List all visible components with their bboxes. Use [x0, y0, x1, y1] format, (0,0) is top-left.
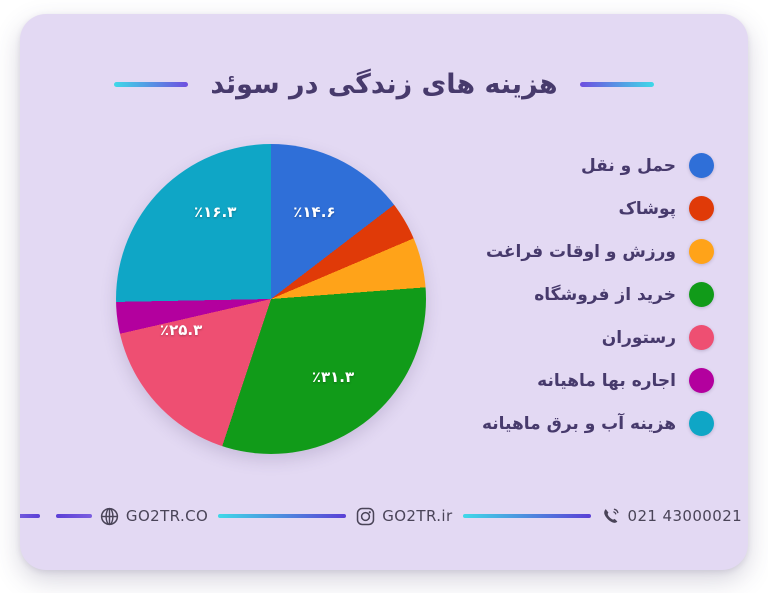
- footer-rule-4-icon: [463, 514, 591, 518]
- footer-rule-2-icon: [56, 514, 92, 518]
- legend-color-swatch: [689, 282, 714, 307]
- footer-phone[interactable]: 021 43000021: [601, 506, 743, 526]
- legend-color-swatch: [689, 325, 714, 350]
- legend-item-label: خرید از فروشگاه: [534, 285, 676, 305]
- chart-and-legend-area: ٪۱۴.۶٪۳۱.۳٪۲۵.۳٪۱۶.۳ حمل و نقلپوشاکورزش …: [20, 124, 748, 474]
- footer-rule-3-icon: [218, 514, 346, 518]
- legend-item[interactable]: خرید از فروشگاه: [424, 273, 714, 316]
- footer-rule-1-icon: [20, 514, 40, 518]
- legend-color-swatch: [689, 239, 714, 264]
- chart-legend: حمل و نقلپوشاکورزش و اوقات فراغتخرید از …: [424, 144, 714, 445]
- legend-item-label: پوشاک: [618, 199, 676, 219]
- infographic-card: هزینه های زندگی در سوئد ٪۱۴.۶٪۳۱.۳٪۲۵.۳٪…: [20, 14, 748, 570]
- footer-website-text: GO2TR.CO: [126, 507, 208, 525]
- legend-color-swatch: [689, 153, 714, 178]
- legend-item[interactable]: اجاره بها ماهیانه: [424, 359, 714, 402]
- footer-phone-text: 021 43000021: [628, 507, 743, 525]
- legend-item[interactable]: حمل و نقل: [424, 144, 714, 187]
- legend-item-label: حمل و نقل: [581, 156, 676, 176]
- footer-instagram[interactable]: GO2TR.ir: [356, 507, 452, 526]
- title-rule-left-icon: [114, 82, 188, 87]
- image-backdrop: هزینه های زندگی در سوئد ٪۱۴.۶٪۳۱.۳٪۲۵.۳٪…: [0, 0, 768, 593]
- phone-ringing-icon: [601, 506, 621, 526]
- legend-item[interactable]: هزینه آب و برق ماهیانه: [424, 402, 714, 445]
- legend-item-label: اجاره بها ماهیانه: [537, 371, 676, 391]
- legend-item[interactable]: ورزش و اوقات فراغت: [424, 230, 714, 273]
- legend-item-label: هزینه آب و برق ماهیانه: [482, 414, 676, 434]
- legend-item-label: ورزش و اوقات فراغت: [486, 242, 676, 262]
- footer-bar: GO2TR.CO GO2TR.ir 021 43000021: [20, 490, 748, 542]
- instagram-icon: [356, 507, 375, 526]
- footer-website[interactable]: GO2TR.CO: [100, 507, 208, 526]
- legend-item-label: رستوران: [602, 328, 676, 348]
- pie-disc: [116, 144, 426, 454]
- legend-color-swatch: [689, 411, 714, 436]
- page-title: هزینه های زندگی در سوئد: [210, 69, 557, 100]
- legend-item[interactable]: پوشاک: [424, 187, 714, 230]
- legend-color-swatch: [689, 368, 714, 393]
- legend-item[interactable]: رستوران: [424, 316, 714, 359]
- title-rule-right-icon: [580, 82, 654, 87]
- pie-chart: ٪۱۴.۶٪۳۱.۳٪۲۵.۳٪۱۶.۳: [116, 144, 426, 454]
- title-row: هزینه های زندگی در سوئد: [20, 60, 748, 108]
- legend-color-swatch: [689, 196, 714, 221]
- globe-icon: [100, 507, 119, 526]
- footer-instagram-text: GO2TR.ir: [382, 507, 452, 525]
